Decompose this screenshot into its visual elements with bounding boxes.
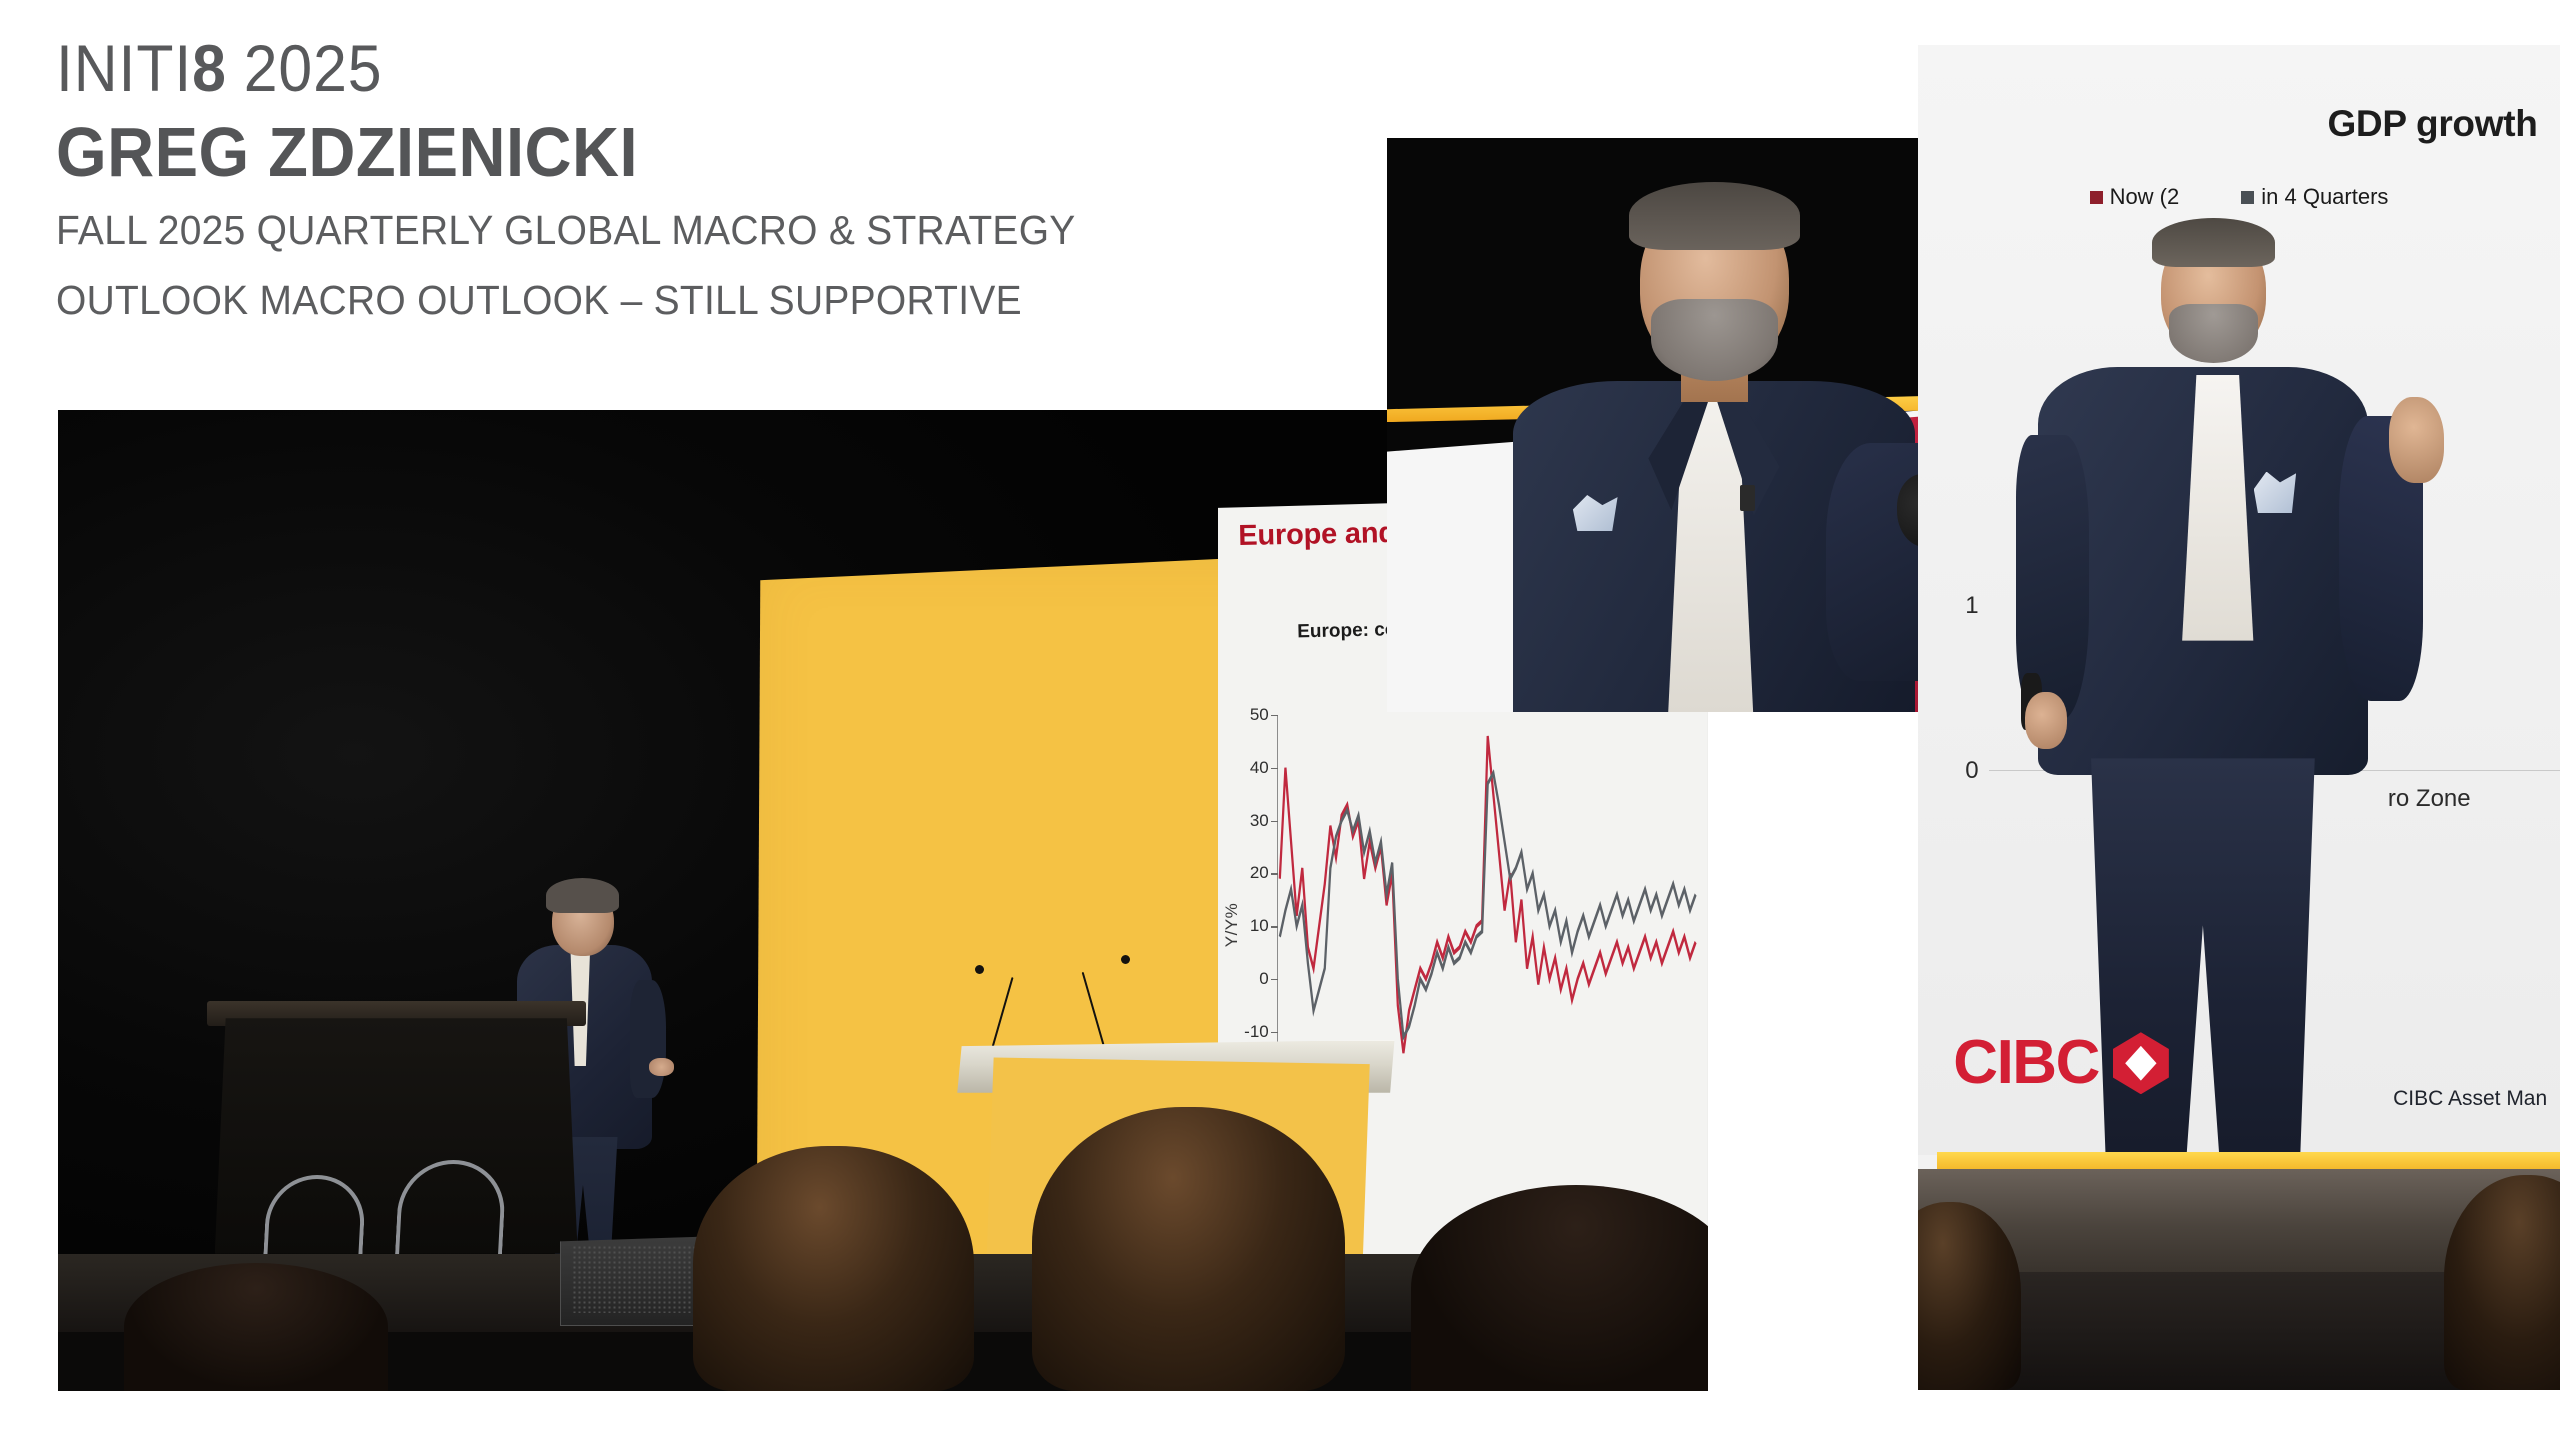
chart-y-tick: -10 [1244,1022,1269,1042]
right-beard [2169,304,2258,363]
lapel-microphone-icon [1740,485,1755,511]
legend-label-in-4-quarters: in 4 Quarters [2261,184,2388,209]
title-block: INITI8 2025 GREG ZDZIENICKI FALL 2025 QU… [56,34,1356,328]
cibc-logo-text: CIBC [1953,1032,2099,1094]
cibc-logo: CIBC [1953,1032,2169,1094]
right-hand-right [2389,397,2444,482]
chart-y-tick: 10 [1250,916,1269,936]
slide-canvas: INITI8 2025 GREG ZDZIENICKI FALL 2025 QU… [0,0,2560,1440]
portrait-beard [1651,299,1778,382]
event-brand-line: INITI8 2025 [56,34,1252,103]
chart-y-tick: 20 [1250,863,1269,883]
legend-item-now: Now (2 [2090,184,2180,210]
page-title: GREG ZDZIENICKI [56,117,1265,187]
right-hair [2152,218,2275,267]
chart-y-tick: 40 [1250,758,1269,778]
audience-silhouette-center [693,1146,974,1391]
subtitle-line-1: FALL 2025 QUARTERLY GLOBAL MACRO & STRAT… [56,203,1291,258]
chart-y-tick: 30 [1250,811,1269,831]
chart-y-axis-label: Y/Y% [1222,902,1242,947]
audience-silhouette-left [124,1263,388,1391]
legend-label-now: Now (2 [2110,184,2180,209]
speaker-arm-right [630,980,665,1098]
right-hand-left [2025,692,2067,749]
gdp-y-tick: 0 [1965,757,1978,785]
chart-y-tick: 0 [1259,969,1268,989]
subtitle-line-2: OUTLOOK MACRO OUTLOOK – STILL SUPPORTIVE [56,273,1291,328]
portrait-hair [1629,182,1800,249]
event-brand-prefix: INITI [56,31,192,105]
chart-y-tick: 50 [1250,705,1269,725]
legend-swatch-now [2090,191,2103,204]
portrait-person [1528,195,1900,712]
speaker-hand-right [649,1058,673,1076]
legend-item-in-4-quarters: in 4 Quarters [2241,184,2388,210]
gdp-chart-legend: Now (2 in 4 Quarters [1918,184,2560,210]
microphone-head-right [1121,955,1130,964]
audience-silhouette-right [1032,1107,1346,1391]
cibc-asset-management-text: CIBC Asset Man [2393,1087,2547,1111]
event-brand-mark: 8 [192,31,226,105]
right-trousers [2076,758,2330,1176]
gdp-y-tick: 1 [1965,592,1978,620]
event-brand-year: 2025 [244,31,383,105]
gdp-chart-title: GDP growth [2327,103,2537,145]
cibc-diamond-icon [2113,1032,2169,1094]
legend-swatch-in-4-quarters [2241,191,2254,204]
speaker-hair [546,878,619,913]
photo-speaker-gdp-slide: GDP growth Now (2 in 4 Quarters 10 Canad… [1918,45,2560,1390]
